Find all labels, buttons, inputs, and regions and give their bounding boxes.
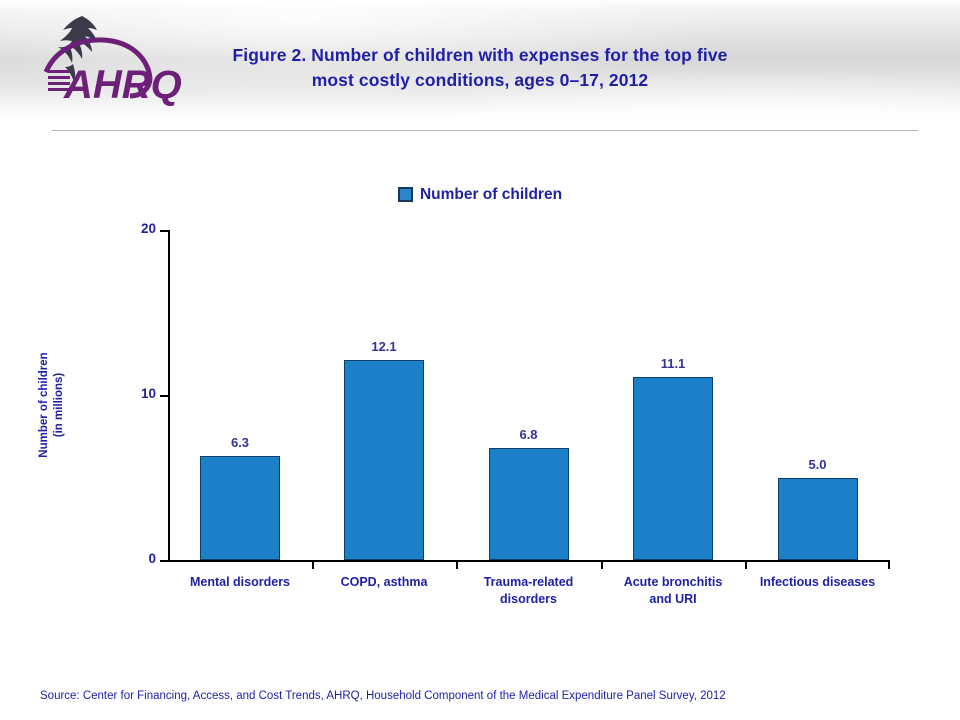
bar-group-copd-asthma: 12.1 COPD, asthma [312, 230, 456, 560]
bar-trauma-related-disorders[interactable] [489, 448, 569, 560]
bar-value-trauma-related-disorders: 6.8 [519, 427, 537, 442]
x-axis-label-trauma-related-disorders: Trauma-related disorders [449, 574, 609, 608]
bar-group-mental-disorders: 6.3 Mental disorders [168, 230, 312, 560]
ahrq-wordmark: AHRQ [48, 63, 182, 107]
x-tick-1 [312, 560, 314, 569]
x-tick-2 [456, 560, 458, 569]
y-tick-label-0: 0 [148, 551, 156, 566]
x-axis-label-infectious-diseases-line-1: Infectious diseases [738, 574, 898, 591]
x-axis-label-mental-disorders: Mental disorders [160, 574, 320, 591]
x-tick-4 [745, 560, 747, 569]
bar-acute-bronchitis-and-uri[interactable] [633, 377, 713, 560]
x-axis-label-copd-asthma: COPD, asthma [304, 574, 464, 591]
y-tick-mark-10 [160, 395, 168, 397]
bar-value-infectious-diseases: 5.0 [808, 457, 826, 472]
bar-mental-disorders[interactable] [200, 456, 280, 560]
bar-copd-asthma[interactable] [344, 360, 424, 560]
y-tick-label-20: 20 [141, 221, 156, 236]
bar-chart: Number of children Number of children (i… [0, 150, 960, 650]
header-divider [52, 130, 918, 132]
source-note: Source: Center for Financing, Access, an… [40, 690, 726, 702]
x-axis-label-mental-disorders-line-1: Mental disorders [160, 574, 320, 591]
bar-group-acute-bronchitis-and-uri: 11.1 Acute bronchitis and URI [601, 230, 745, 560]
bar-group-trauma-related-disorders: 6.8 Trauma-related disorders [456, 230, 601, 560]
y-tick-mark-20 [160, 230, 168, 232]
plot-area: 0 10 20 6.3 Mental disorders 12.1 [168, 230, 890, 560]
bar-infectious-diseases[interactable] [778, 478, 858, 560]
x-tick-5 [888, 560, 890, 569]
x-axis-label-trauma-related-disorders-line-1: Trauma-related [449, 574, 609, 591]
page-title-line-1: Figure 2. Number of children with expens… [180, 43, 780, 68]
legend-swatch-icon [398, 187, 413, 202]
x-axis-label-acute-bronchitis-and-uri-line-2: and URI [593, 591, 753, 608]
x-axis-label-infectious-diseases: Infectious diseases [738, 574, 898, 591]
x-axis-label-trauma-related-disorders-line-2: disorders [449, 591, 609, 608]
x-axis-label-acute-bronchitis-and-uri: Acute bronchitis and URI [593, 574, 753, 608]
page-title-line-2: most costly conditions, ages 0–17, 2012 [180, 68, 780, 93]
page-title: Figure 2. Number of children with expens… [180, 43, 780, 93]
chart-legend: Number of children [0, 186, 960, 204]
y-axis-title-line-1: Number of children [37, 305, 52, 505]
legend-label: Number of children [420, 186, 562, 203]
y-axis-title: Number of children (in millions) [37, 305, 67, 505]
x-axis-label-copd-asthma-line-1: COPD, asthma [304, 574, 464, 591]
bar-value-copd-asthma: 12.1 [371, 339, 396, 354]
x-axis-line [168, 560, 890, 562]
bar-value-mental-disorders: 6.3 [231, 435, 249, 450]
x-tick-3 [601, 560, 603, 569]
y-tick-label-10: 10 [141, 386, 156, 401]
x-axis-label-acute-bronchitis-and-uri-line-1: Acute bronchitis [593, 574, 753, 591]
svg-text:AHRQ: AHRQ [63, 63, 182, 107]
y-axis-title-line-2: (in millions) [52, 305, 67, 505]
y-tick-mark-0 [160, 560, 168, 562]
bar-value-acute-bronchitis-and-uri: 11.1 [661, 356, 686, 371]
bar-group-infectious-diseases: 5.0 Infectious diseases [745, 230, 890, 560]
